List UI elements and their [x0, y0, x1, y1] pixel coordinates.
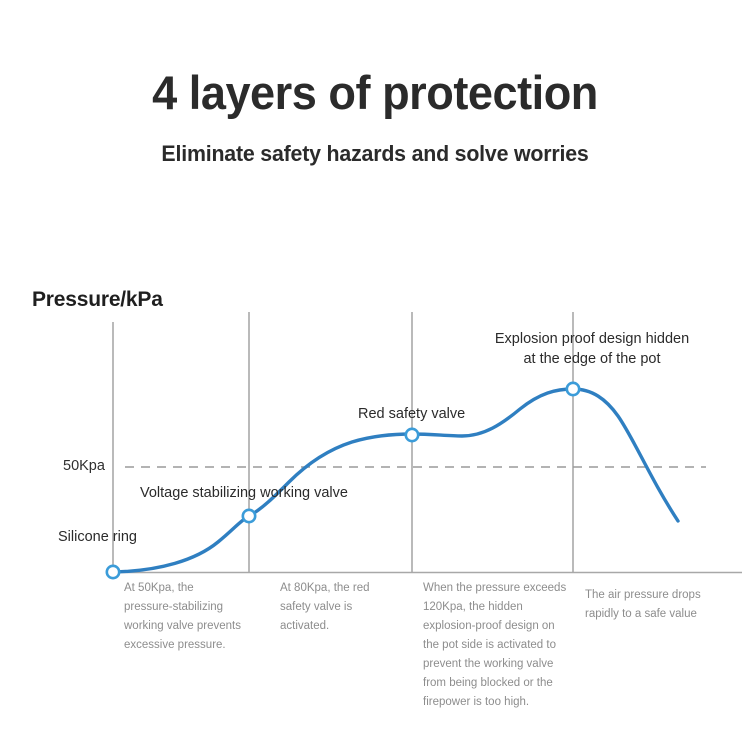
- caption-block-4: The air pressure drops rapidly to a safe…: [585, 586, 735, 624]
- data-point-marker: [107, 566, 119, 578]
- annotation-voltage-stabilizing-working-valve: Voltage stabilizing working valve: [140, 484, 348, 504]
- annotation-red-safety-valve: Red safety valve: [358, 405, 465, 425]
- annotation-explosion-proof-line2: at the edge of the pot: [523, 351, 660, 367]
- caption-block-1: At 50Kpa, the pressure-stabilizing worki…: [124, 579, 242, 655]
- chart-canvas: [0, 0, 750, 750]
- caption-block-3: When the pressure exceeds 120Kpa, the hi…: [423, 579, 567, 712]
- data-point-marker: [243, 510, 255, 522]
- data-point-marker: [567, 383, 579, 395]
- annotation-explosion-proof-line1: Explosion proof design hidden: [495, 331, 689, 347]
- pressure-curve-chart: Pressure/kPa 50Kpa Silicone ring Voltage…: [0, 0, 750, 750]
- y-axis-title: Pressure/kPa: [32, 288, 163, 312]
- annotation-explosion-proof-design: Explosion proof design hidden at the edg…: [478, 330, 706, 369]
- caption-block-2: At 80Kpa, the red safety valve is activa…: [280, 579, 400, 636]
- data-point-markers: [107, 383, 579, 578]
- threshold-label: 50Kpa: [63, 458, 105, 474]
- data-point-marker: [406, 429, 418, 441]
- annotation-silicone-ring: Silicone ring: [58, 528, 137, 548]
